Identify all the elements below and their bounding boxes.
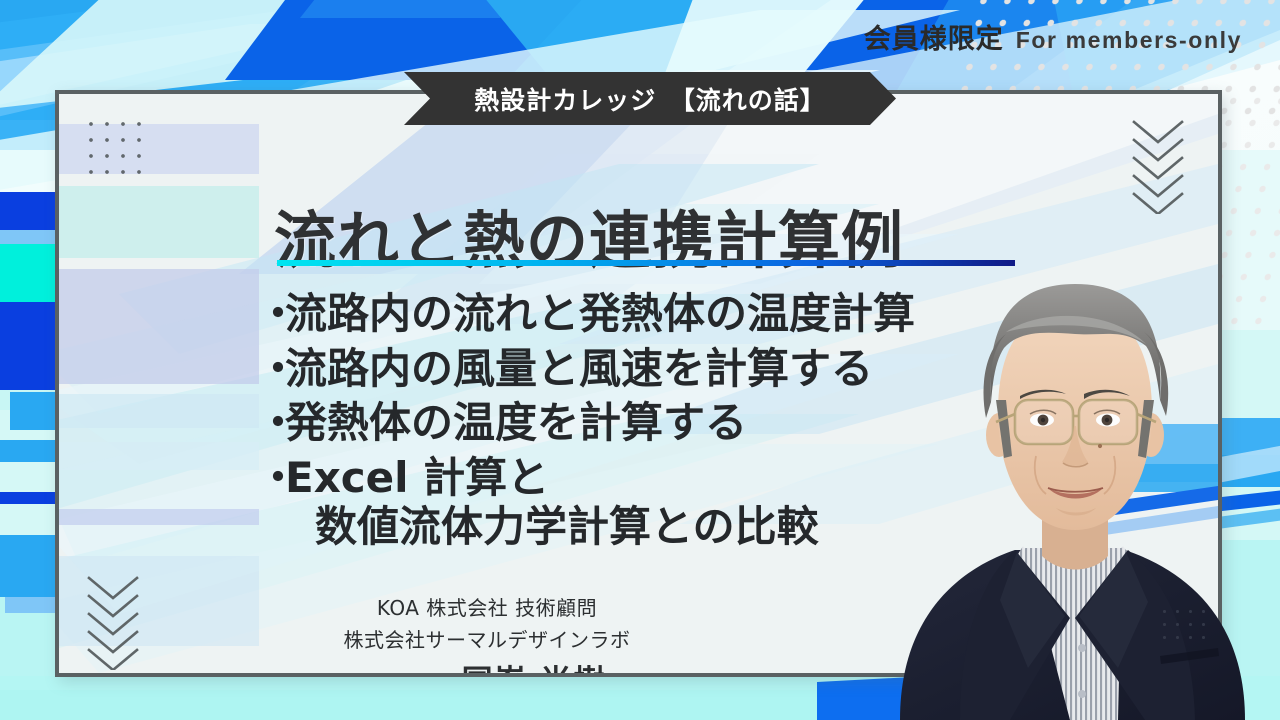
course-ribbon: 熱設計カレッジ 【流れの話】	[404, 72, 896, 125]
dot-grid-overlay-icon	[1158, 605, 1210, 649]
presenter-photo	[860, 250, 1280, 720]
members-badge-en: For members-only	[1016, 27, 1242, 54]
presenter-name: 国峯 尚樹	[448, 664, 607, 677]
credit-line-3: 代表取締役国峯 尚樹氏	[59, 657, 915, 677]
bullet-marker: ・	[257, 344, 285, 394]
credit-line-1: KOA 株式会社 技術顧問	[59, 592, 915, 624]
presenter-credits: KOA 株式会社 技術顧問 株式会社サーマルデザインラボ 代表取締役国峯 尚樹氏	[59, 592, 915, 677]
bullet-text-second-line: 数値流体力学計算との比較	[285, 502, 819, 552]
bullet-text-wrap: Excel 計算と 数値流体力学計算との比較	[285, 453, 819, 552]
slide-stage: 会員様限定 For members-only	[0, 0, 1280, 720]
bullet-marker: ・	[257, 453, 285, 503]
members-badge-jp: 会員様限定	[864, 17, 1004, 56]
bullet-text: Excel 計算と	[285, 453, 549, 502]
presenter-honorific: 氏	[606, 673, 629, 677]
course-ribbon-label: 熱設計カレッジ 【流れの話】	[474, 81, 826, 117]
members-only-badge: 会員様限定 For members-only	[864, 17, 1242, 56]
bullet-marker: ・	[257, 398, 285, 448]
page-title: 流れと熱の連携計算例	[274, 190, 904, 280]
bullet-text: 発熱体の温度を計算する	[285, 398, 747, 448]
bullet-text: 流路内の風量と風速を計算する	[285, 344, 873, 394]
bullet-marker: ・	[257, 289, 285, 339]
bullet-text: 流路内の流れと発熱体の温度計算	[285, 289, 915, 339]
credit-line-2: 株式会社サーマルデザインラボ	[59, 624, 915, 656]
presenter-role: 代表取締役	[345, 673, 448, 677]
